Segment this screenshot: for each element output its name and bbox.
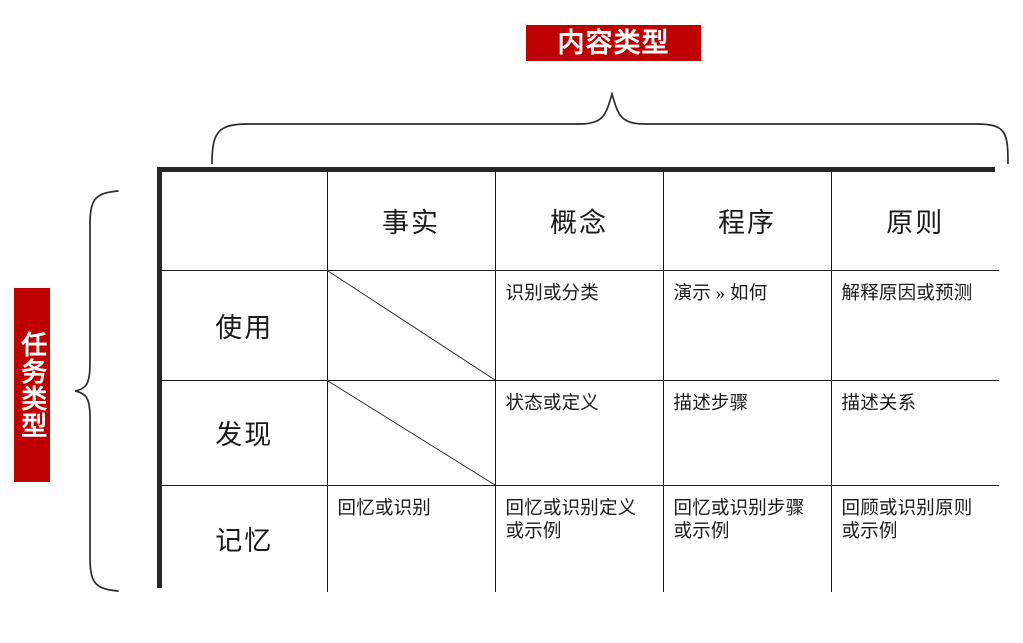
top-brace [200, 92, 1020, 164]
cell-find-principles: 描述关系 [831, 380, 999, 485]
cell-remember-facts: 回忆或识别 [327, 485, 495, 592]
cell-find-facts-text [328, 381, 495, 393]
content-type-banner: 内容类型 [526, 25, 701, 61]
content-type-banner-label: 内容类型 [558, 30, 670, 57]
cell-find-facts [327, 380, 495, 485]
cell-find-principles-text: 描述关系 [832, 381, 1000, 417]
row-header-find-label: 发现 [162, 381, 327, 485]
cell-use-procedures-text: 演示 » 如何 [664, 271, 831, 307]
task-type-banner-label: 任务类型 [18, 331, 46, 439]
diagonal-strike-icon [328, 271, 495, 380]
column-header-procedures: 程序 [663, 172, 831, 270]
task-type-banner: 任务类型 [14, 288, 50, 482]
matrix-table: 事实 概念 程序 原则 使用 [162, 172, 999, 592]
column-header-concepts: 概念 [495, 172, 663, 270]
left-brace [72, 186, 168, 596]
cell-use-concepts: 识别或分类 [495, 270, 663, 380]
cell-remember-facts-text: 回忆或识别 [328, 486, 495, 522]
column-header-concepts-label: 概念 [496, 172, 663, 270]
left-brace-icon [72, 186, 168, 596]
cell-use-facts-text [328, 271, 495, 283]
matrix-header-row: 事实 概念 程序 原则 [162, 172, 999, 270]
cell-remember-concepts: 回忆或识别定义或示例 [495, 485, 663, 592]
cell-find-procedures-text: 描述步骤 [664, 381, 831, 417]
cell-use-procedures: 演示 » 如何 [663, 270, 831, 380]
cell-remember-procedures: 回忆或识别步骤或示例 [663, 485, 831, 592]
matrix-row-find: 发现 状态或定义 描述步骤 描述关系 [162, 380, 999, 485]
cell-remember-principles: 回顾或识别原则或示例 [831, 485, 999, 592]
row-header-use: 使用 [162, 270, 327, 380]
cell-remember-concepts-text: 回忆或识别定义或示例 [496, 486, 663, 545]
row-header-find: 发现 [162, 380, 327, 485]
row-header-remember-label: 记忆 [162, 486, 327, 593]
cell-remember-procedures-text: 回忆或识别步骤或示例 [664, 486, 831, 545]
row-header-remember: 记忆 [162, 485, 327, 592]
diagonal-strike-icon [328, 381, 495, 485]
column-header-procedures-label: 程序 [664, 172, 831, 270]
cell-remember-principles-text: 回顾或识别原则或示例 [832, 486, 1000, 545]
row-header-use-label: 使用 [162, 271, 327, 380]
column-header-facts: 事实 [327, 172, 495, 270]
matrix-row-use: 使用 识别或分类 演示 » 如何 解释原因或预测 [162, 270, 999, 380]
cell-use-principles: 解释原因或预测 [831, 270, 999, 380]
top-brace-icon [200, 92, 1020, 164]
cell-use-concepts-text: 识别或分类 [496, 271, 663, 307]
column-header-principles: 原则 [831, 172, 999, 270]
cell-find-concepts: 状态或定义 [495, 380, 663, 485]
matrix-row-remember: 记忆 回忆或识别 回忆或识别定义或示例 回忆或识别步骤或示例 回顾或识别原则或示… [162, 485, 999, 592]
cell-find-concepts-text: 状态或定义 [496, 381, 663, 417]
column-header-facts-label: 事实 [328, 172, 495, 270]
cell-find-procedures: 描述步骤 [663, 380, 831, 485]
column-header-principles-label: 原则 [832, 172, 1000, 270]
matrix-corner-cell [162, 172, 327, 270]
cell-use-facts [327, 270, 495, 380]
content-task-matrix: 事实 概念 程序 原则 使用 [157, 167, 995, 588]
cell-use-principles-text: 解释原因或预测 [832, 271, 1000, 307]
